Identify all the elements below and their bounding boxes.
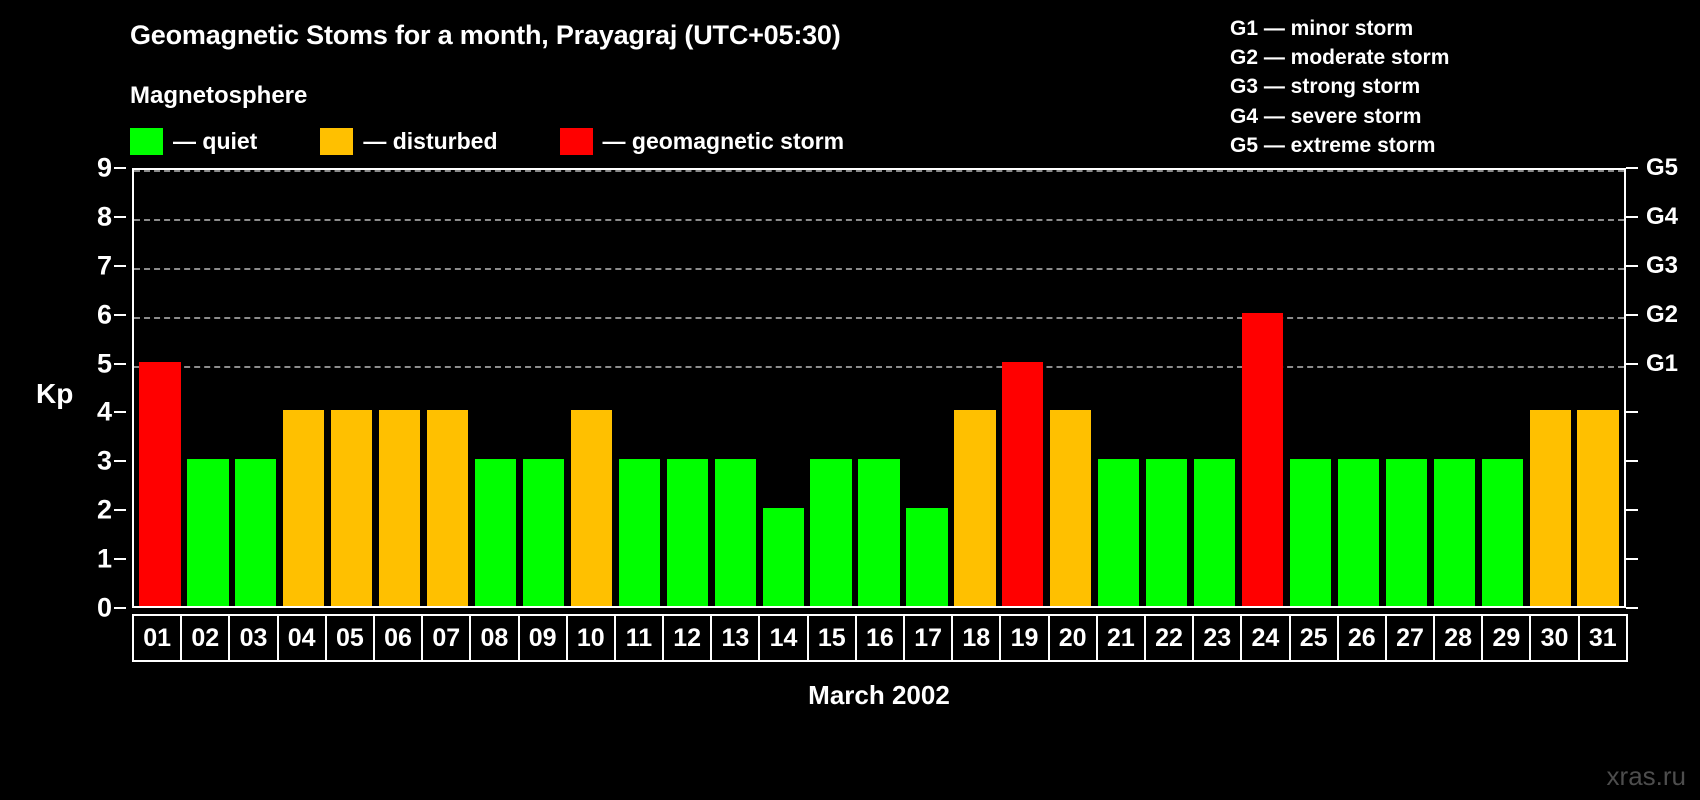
- g-tick-label-g1: G1: [1646, 350, 1678, 378]
- day-label-27[interactable]: 27: [1385, 614, 1435, 662]
- day-label-20[interactable]: 20: [1048, 614, 1098, 662]
- day-label-19[interactable]: 19: [999, 614, 1049, 662]
- y-tick-mark-3: [114, 460, 126, 462]
- day-label-08[interactable]: 08: [469, 614, 519, 662]
- day-label-06[interactable]: 06: [373, 614, 423, 662]
- gscale-row-g3: G3 — strong storm: [1230, 72, 1449, 101]
- g-tick-label-g4: G4: [1646, 203, 1678, 231]
- day-label-31[interactable]: 31: [1578, 614, 1628, 662]
- bar-day-05[interactable]: [331, 410, 372, 606]
- g-tick-label-g2: G2: [1646, 301, 1678, 329]
- legend-swatch-quiet-icon: [130, 128, 163, 155]
- bar-day-10[interactable]: [571, 410, 612, 606]
- bar-slot-day-14: [759, 170, 807, 606]
- bar-slot-day-11: [615, 170, 663, 606]
- bar-day-28[interactable]: [1434, 459, 1475, 606]
- bar-slot-day-24: [1239, 170, 1287, 606]
- bar-day-30[interactable]: [1530, 410, 1571, 606]
- y-tick-label-0: 0: [97, 593, 112, 624]
- bar-slot-day-19: [999, 170, 1047, 606]
- bar-slot-day-10: [567, 170, 615, 606]
- g-tick-label-g5: G5: [1646, 154, 1678, 182]
- legend-label-quiet: — quiet: [173, 128, 257, 155]
- y-tick-label-9: 9: [97, 153, 112, 184]
- bar-day-01[interactable]: [139, 362, 180, 606]
- bar-slot-day-17: [903, 170, 951, 606]
- day-label-02[interactable]: 02: [180, 614, 230, 662]
- bar-day-19[interactable]: [1002, 362, 1043, 606]
- bar-slot-day-29: [1478, 170, 1526, 606]
- bar-day-13[interactable]: [715, 459, 756, 606]
- day-label-01[interactable]: 01: [132, 614, 182, 662]
- legend-item-disturbed: — disturbed: [320, 128, 497, 155]
- g-tick-mark-kp-2: [1626, 509, 1638, 511]
- y-tick-label-3: 3: [97, 446, 112, 477]
- bar-day-17[interactable]: [906, 508, 947, 606]
- y-tick-mark-9: [114, 167, 126, 169]
- legend-label-disturbed: — disturbed: [363, 128, 497, 155]
- y-tick-mark-7: [114, 265, 126, 267]
- day-label-04[interactable]: 04: [277, 614, 327, 662]
- day-label-23[interactable]: 23: [1192, 614, 1242, 662]
- legend-swatch-disturbed-icon: [320, 128, 353, 155]
- gscale-row-g4: G4 — severe storm: [1230, 102, 1449, 131]
- bar-slot-day-31: [1574, 170, 1622, 606]
- bar-slot-day-08: [472, 170, 520, 606]
- y-tick-mark-5: [114, 363, 126, 365]
- y-tick-mark-4: [114, 411, 126, 413]
- legend-item-quiet: — quiet: [130, 128, 257, 155]
- bar-slot-day-02: [184, 170, 232, 606]
- bar-day-18[interactable]: [954, 410, 995, 606]
- day-label-07[interactable]: 07: [421, 614, 471, 662]
- g-tick-mark-kp-0: [1626, 607, 1638, 609]
- gscale-legend: G1 — minor storm G2 — moderate storm G3 …: [1230, 14, 1449, 160]
- bar-slot-day-22: [1143, 170, 1191, 606]
- bar-slot-day-06: [376, 170, 424, 606]
- bar-day-09[interactable]: [523, 459, 564, 606]
- g-tick-mark-kp-4: [1626, 411, 1638, 413]
- day-label-25[interactable]: 25: [1289, 614, 1339, 662]
- bar-day-16[interactable]: [858, 459, 899, 606]
- bar-slot-day-04: [280, 170, 328, 606]
- gscale-row-g2: G2 — moderate storm: [1230, 43, 1449, 72]
- watermark: xras.ru: [1607, 761, 1686, 792]
- bar-day-12[interactable]: [667, 459, 708, 606]
- day-label-13[interactable]: 13: [710, 614, 760, 662]
- bar-day-22[interactable]: [1146, 459, 1187, 606]
- x-axis-title: March 2002: [132, 680, 1626, 711]
- gscale-row-g5: G5 — extreme storm: [1230, 131, 1449, 160]
- g-tick-mark-kp-9: [1626, 167, 1638, 169]
- g-tick-mark-kp-3: [1626, 460, 1638, 462]
- bar-slot-day-07: [424, 170, 472, 606]
- day-label-24[interactable]: 24: [1240, 614, 1290, 662]
- bar-day-25[interactable]: [1290, 459, 1331, 606]
- plot-area: [132, 168, 1626, 608]
- y-tick-mark-0: [114, 607, 126, 609]
- x-axis-day-labels: 0102030405060708091011121314151617181920…: [132, 614, 1626, 662]
- y-tick-label-8: 8: [97, 201, 112, 232]
- y-tick-mark-8: [114, 216, 126, 218]
- bar-slot-day-26: [1334, 170, 1382, 606]
- day-label-03[interactable]: 03: [228, 614, 278, 662]
- day-label-11[interactable]: 11: [614, 614, 664, 662]
- legend-label-storm: — geomagnetic storm: [603, 128, 845, 155]
- y-tick-mark-1: [114, 558, 126, 560]
- bar-slot-day-15: [807, 170, 855, 606]
- day-label-09[interactable]: 09: [518, 614, 568, 662]
- bar-day-11[interactable]: [619, 459, 660, 606]
- bar-day-29[interactable]: [1482, 459, 1523, 606]
- bar-slot-day-18: [951, 170, 999, 606]
- bar-day-15[interactable]: [810, 459, 851, 606]
- bar-slot-day-16: [855, 170, 903, 606]
- magnetosphere-heading: Magnetosphere: [130, 82, 307, 110]
- page-title: Geomagnetic Stoms for a month, Prayagraj…: [130, 20, 841, 51]
- g-tick-mark-kp-7: [1626, 265, 1638, 267]
- bar-slot-day-12: [663, 170, 711, 606]
- bar-slot-day-01: [136, 170, 184, 606]
- legend-swatch-storm-icon: [560, 128, 593, 155]
- bar-slot-day-27: [1382, 170, 1430, 606]
- g-tick-mark-kp-8: [1626, 216, 1638, 218]
- bar-day-08[interactable]: [475, 459, 516, 606]
- bar-slot-day-20: [1047, 170, 1095, 606]
- bar-day-04[interactable]: [283, 410, 324, 606]
- y-axis-gscale: G1G2G3G4G5: [1626, 168, 1700, 608]
- day-label-21[interactable]: 21: [1096, 614, 1146, 662]
- bar-day-20[interactable]: [1050, 410, 1091, 606]
- bar-day-23[interactable]: [1194, 459, 1235, 606]
- y-tick-label-6: 6: [97, 299, 112, 330]
- bar-slot-day-28: [1430, 170, 1478, 606]
- day-label-26[interactable]: 26: [1337, 614, 1387, 662]
- day-label-14[interactable]: 14: [758, 614, 808, 662]
- day-label-15[interactable]: 15: [807, 614, 857, 662]
- day-label-17[interactable]: 17: [903, 614, 953, 662]
- bar-day-31[interactable]: [1577, 410, 1618, 606]
- bar-day-03[interactable]: [235, 459, 276, 606]
- day-label-22[interactable]: 22: [1144, 614, 1194, 662]
- day-label-10[interactable]: 10: [566, 614, 616, 662]
- y-tick-label-5: 5: [97, 348, 112, 379]
- bar-day-14[interactable]: [763, 508, 804, 606]
- day-label-05[interactable]: 05: [325, 614, 375, 662]
- bar-slot-day-05: [328, 170, 376, 606]
- bar-slot-day-21: [1095, 170, 1143, 606]
- y-tick-label-1: 1: [97, 544, 112, 575]
- y-axis-title: Kp: [36, 378, 73, 410]
- y-tick-mark-2: [114, 509, 126, 511]
- day-label-16[interactable]: 16: [855, 614, 905, 662]
- bar-slot-day-03: [232, 170, 280, 606]
- legend-item-storm: — geomagnetic storm: [560, 128, 845, 155]
- bar-day-06[interactable]: [379, 410, 420, 606]
- bars-layer: [134, 170, 1624, 606]
- day-label-29[interactable]: 29: [1481, 614, 1531, 662]
- day-label-18[interactable]: 18: [951, 614, 1001, 662]
- magnetosphere-legend: — quiet — disturbed — geomagnetic storm: [130, 128, 844, 155]
- bar-slot-day-13: [711, 170, 759, 606]
- g-tick-label-g3: G3: [1646, 252, 1678, 280]
- y-axis-kp: 0123456789: [70, 168, 126, 608]
- g-tick-mark-kp-1: [1626, 558, 1638, 560]
- y-tick-label-7: 7: [97, 250, 112, 281]
- bar-slot-day-25: [1287, 170, 1335, 606]
- g-tick-mark-kp-5: [1626, 363, 1638, 365]
- bar-day-26[interactable]: [1338, 459, 1379, 606]
- bar-day-24[interactable]: [1242, 313, 1283, 606]
- bar-day-27[interactable]: [1386, 459, 1427, 606]
- day-label-12[interactable]: 12: [662, 614, 712, 662]
- bar-day-02[interactable]: [187, 459, 228, 606]
- gscale-row-g1: G1 — minor storm: [1230, 14, 1449, 43]
- y-tick-label-2: 2: [97, 495, 112, 526]
- day-label-30[interactable]: 30: [1529, 614, 1579, 662]
- bar-slot-day-30: [1526, 170, 1574, 606]
- bar-slot-day-09: [520, 170, 568, 606]
- y-tick-mark-6: [114, 314, 126, 316]
- bar-slot-day-23: [1191, 170, 1239, 606]
- bar-day-07[interactable]: [427, 410, 468, 606]
- day-label-28[interactable]: 28: [1433, 614, 1483, 662]
- g-tick-mark-kp-6: [1626, 314, 1638, 316]
- bar-day-21[interactable]: [1098, 459, 1139, 606]
- y-tick-label-4: 4: [97, 397, 112, 428]
